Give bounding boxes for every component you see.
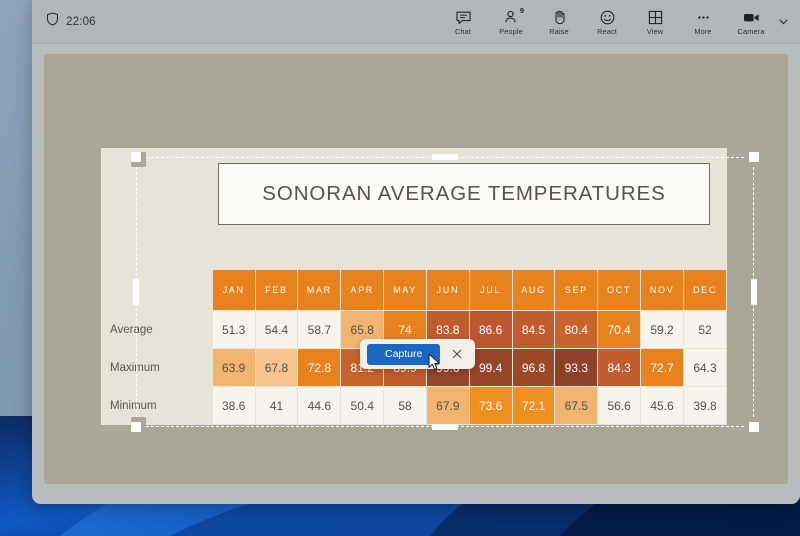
cell-minimum-feb: 41	[256, 387, 298, 424]
cell-minimum-jul: 73.6	[470, 387, 512, 424]
cell-maximum-jan: 63.9	[213, 349, 255, 386]
cell-maximum-mar: 72.8	[298, 349, 340, 386]
selection-handle-nw[interactable]	[131, 152, 146, 167]
camera-label: Camera	[738, 27, 765, 36]
chat-button[interactable]: Chat	[440, 1, 486, 43]
cell-average-dec: 52	[684, 311, 726, 348]
view-button[interactable]: View	[632, 1, 678, 43]
cell-maximum-feb: 67.8	[256, 349, 298, 386]
table-row: Minimum38.64144.650.45867.973.672.167.55…	[102, 387, 726, 424]
react-label: React	[597, 27, 617, 36]
raise-hand-button[interactable]: Raise	[536, 1, 582, 43]
cell-maximum-nov: 72.7	[641, 349, 683, 386]
capture-button[interactable]: Capture	[367, 344, 440, 365]
camera-icon	[742, 9, 761, 26]
people-button[interactable]: 9 People	[488, 1, 534, 43]
meeting-window: 22:06 Chat	[32, 0, 800, 504]
cell-average-oct: 70.4	[598, 311, 640, 348]
column-header-dec: DEC	[684, 270, 726, 310]
cell-minimum-mar: 44.6	[298, 387, 340, 424]
column-header-apr: APR	[341, 270, 383, 310]
cell-minimum-jan: 38.6	[213, 387, 255, 424]
cell-average-mar: 58.7	[298, 311, 340, 348]
column-header-aug: AUG	[513, 270, 555, 310]
window-bottom-filler	[32, 484, 800, 504]
people-label: People	[499, 27, 523, 36]
cell-average-aug: 84.5	[513, 311, 555, 348]
more-label: More	[694, 27, 711, 36]
cell-minimum-may: 58	[384, 387, 426, 424]
column-header-may: MAY	[384, 270, 426, 310]
presentation-stage: SONORAN AVERAGE TEMPERATURES JANFEBMARAP…	[44, 54, 788, 484]
chat-label: Chat	[455, 27, 471, 36]
page-title: SONORAN AVERAGE TEMPERATURES	[262, 182, 665, 206]
selection-handle-w[interactable]	[133, 279, 139, 305]
meeting-status-group: 22:06	[46, 12, 96, 31]
people-count-badge: 9	[520, 6, 524, 15]
cell-average-jan: 51.3	[213, 311, 255, 348]
column-header-mar: MAR	[298, 270, 340, 310]
column-header-jun: JUN	[427, 270, 469, 310]
grid-icon	[647, 9, 664, 26]
chevron-down-icon[interactable]	[776, 1, 790, 43]
cell-minimum-oct: 56.6	[598, 387, 640, 424]
selection-handle-n[interactable]	[432, 154, 458, 160]
selection-handle-sw[interactable]	[131, 417, 146, 432]
cell-minimum-jun: 67.9	[427, 387, 469, 424]
ellipsis-icon	[695, 9, 712, 26]
column-header-jan: JAN	[213, 270, 255, 310]
cell-minimum-aug: 72.1	[513, 387, 555, 424]
raise-hand-icon	[551, 9, 568, 26]
view-label: View	[647, 27, 663, 36]
cell-minimum-apr: 50.4	[341, 387, 383, 424]
table-header-row: JANFEBMARAPRMAYJUNJULAUGSEPOCTNOVDEC	[102, 270, 726, 310]
table-corner-cell	[102, 270, 212, 310]
selection-handle-e[interactable]	[751, 279, 757, 305]
cell-maximum-sep: 93.3	[555, 349, 597, 386]
column-header-feb: FEB	[256, 270, 298, 310]
selection-handle-se[interactable]	[744, 417, 759, 432]
raise-hand-label: Raise	[549, 27, 568, 36]
cell-average-feb: 54.4	[256, 311, 298, 348]
cell-average-jul: 86.6	[470, 311, 512, 348]
column-header-sep: SEP	[555, 270, 597, 310]
meeting-time: 22:06	[66, 16, 96, 28]
cell-minimum-sep: 67.5	[555, 387, 597, 424]
meeting-actions: Chat 9 People	[440, 0, 790, 44]
selection-handle-ne[interactable]	[744, 152, 759, 167]
more-button[interactable]: More	[680, 1, 726, 43]
cell-average-nov: 59.2	[641, 311, 683, 348]
cell-maximum-jul: 99.4	[470, 349, 512, 386]
cell-minimum-nov: 45.6	[641, 387, 683, 424]
column-header-oct: OCT	[598, 270, 640, 310]
cell-maximum-oct: 84.3	[598, 349, 640, 386]
selection-handle-s[interactable]	[432, 424, 458, 430]
emoji-icon	[599, 9, 616, 26]
camera-button[interactable]: Camera	[728, 1, 774, 43]
capture-toolbar: Capture	[360, 339, 475, 369]
people-icon	[503, 9, 520, 26]
cell-maximum-aug: 96.8	[513, 349, 555, 386]
meeting-toolbar: 22:06 Chat	[32, 0, 800, 44]
desktop: 22:06 Chat	[0, 0, 800, 536]
cell-average-sep: 80.4	[555, 311, 597, 348]
close-icon[interactable]	[446, 344, 468, 365]
shield-icon	[46, 12, 59, 31]
chat-icon	[455, 9, 472, 26]
cell-minimum-dec: 39.8	[684, 387, 726, 424]
column-header-jul: JUL	[470, 270, 512, 310]
react-button[interactable]: React	[584, 1, 630, 43]
row-label-average: Average	[102, 311, 212, 348]
row-label-maximum: Maximum	[102, 349, 212, 386]
slide-title-box: SONORAN AVERAGE TEMPERATURES	[218, 163, 710, 225]
row-label-minimum: Minimum	[102, 387, 212, 424]
slide-canvas: SONORAN AVERAGE TEMPERATURES JANFEBMARAP…	[101, 148, 727, 425]
cell-maximum-dec: 64.3	[684, 349, 726, 386]
column-header-nov: NOV	[641, 270, 683, 310]
